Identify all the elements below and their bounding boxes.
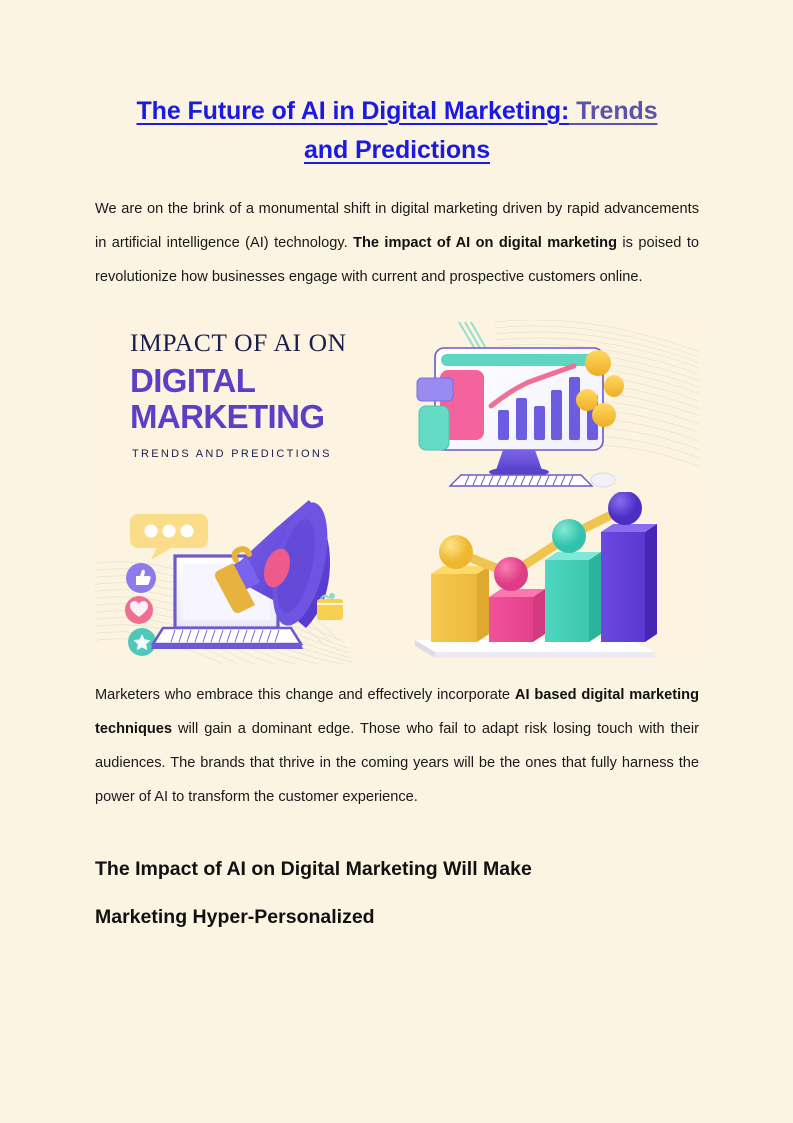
body-paragraph: Marketers who embrace this change and ef… bbox=[95, 678, 699, 814]
infographic-headline-block: IMPACT OF AI ON DIGITAL MARKETING TRENDS… bbox=[95, 328, 395, 488]
infographic-scene-barchart bbox=[399, 492, 699, 664]
section-heading: The Impact of AI on Digital Marketing Wi… bbox=[95, 845, 699, 943]
megaphone-laptop-illustration bbox=[95, 492, 395, 664]
page-title-part-3: and Predictions bbox=[304, 136, 490, 164]
mouse bbox=[591, 473, 615, 487]
document-page: The Future of AI in Digital Marketing: T… bbox=[0, 0, 793, 1123]
document-content: The Future of AI in Digital Marketing: T… bbox=[95, 92, 699, 942]
infographic-scene-megaphone bbox=[95, 492, 395, 664]
sphere-yellow bbox=[439, 535, 473, 569]
section-heading-line-2: Marketing Hyper-Personalized bbox=[95, 893, 699, 942]
bar-teal bbox=[545, 552, 601, 642]
sphere-purple bbox=[608, 492, 642, 525]
bar-pink bbox=[489, 589, 545, 642]
chart-base bbox=[415, 640, 655, 658]
monitor-analytics-illustration bbox=[399, 320, 699, 488]
heart-icon bbox=[125, 596, 153, 624]
body-text-lead: Marketers who embrace this change and ef… bbox=[95, 687, 515, 703]
body-text-tail: will gain a dominant edge. Those who fai… bbox=[95, 721, 699, 805]
sphere-teal bbox=[552, 519, 586, 553]
bar-purple bbox=[601, 524, 657, 642]
infographic-subhead: TRENDS AND PREDICTIONS bbox=[132, 448, 395, 460]
bar-yellow bbox=[431, 566, 489, 642]
section-heading-line-1: The Impact of AI on Digital Marketing Wi… bbox=[95, 858, 532, 880]
page-title-part-1: The Future of AI in Digital Marketing: bbox=[137, 97, 570, 125]
page-title: The Future of AI in Digital Marketing: T… bbox=[95, 92, 699, 170]
infographic-headline-bold-1: DIGITAL bbox=[130, 363, 395, 400]
infographic-scene-monitor bbox=[399, 320, 699, 488]
keyboard bbox=[450, 475, 592, 486]
infographic-image: IMPACT OF AI ON DIGITAL MARKETING TRENDS… bbox=[95, 320, 699, 664]
intro-text-emphasis: The impact of AI on digital marketing bbox=[353, 235, 617, 251]
star-icon bbox=[128, 628, 156, 656]
intro-paragraph: We are on the brink of a monumental shif… bbox=[95, 192, 699, 294]
thumbs-up-icon bbox=[126, 563, 156, 593]
infographic-headline-serif: IMPACT OF AI ON bbox=[130, 328, 395, 358]
infographic-headline-bold-2: MARKETING bbox=[130, 399, 395, 436]
page-title-part-2: Trends bbox=[569, 97, 657, 125]
bar-chart-3d-illustration bbox=[399, 492, 699, 664]
sphere-pink bbox=[494, 557, 528, 591]
